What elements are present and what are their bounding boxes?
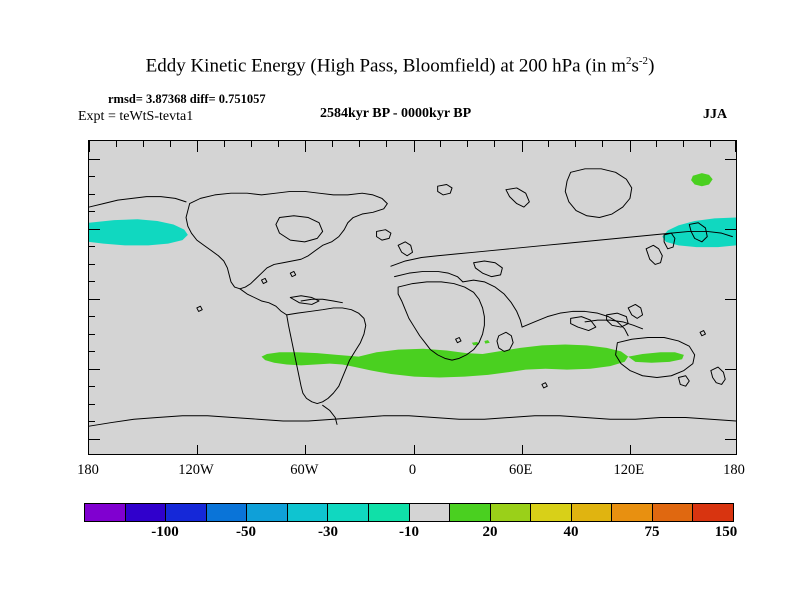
coastline-philippines bbox=[628, 304, 642, 318]
x-tick-major bbox=[414, 141, 415, 152]
colorbar-swatch-3 bbox=[207, 504, 248, 521]
y-tick-minor bbox=[89, 334, 95, 335]
coastline-caribbean bbox=[301, 299, 342, 302]
coastline-islet-b bbox=[262, 278, 267, 283]
colorbar-label-7: 150 bbox=[715, 524, 738, 541]
rmsd-diff-label: rmsd= 3.87368 diff= 0.751057 bbox=[108, 92, 266, 107]
x-tick-minor bbox=[332, 141, 333, 147]
colorbar-swatch-1 bbox=[126, 504, 167, 521]
x-tick-minor bbox=[575, 141, 576, 147]
colorbar-swatch-5 bbox=[288, 504, 329, 521]
coastline-antarctic-peninsula bbox=[323, 405, 337, 424]
coastline-islet-a bbox=[290, 271, 295, 276]
x-tick-top bbox=[305, 445, 306, 454]
x-tick-minor bbox=[143, 141, 144, 147]
region-southern-ocean-tail bbox=[628, 352, 684, 362]
y-tick-minor bbox=[89, 386, 95, 387]
colorbar-swatch-13 bbox=[612, 504, 653, 521]
y-tick-right-40s bbox=[725, 369, 736, 370]
x-tick-minor bbox=[494, 141, 495, 147]
colorbar-label-5: 40 bbox=[564, 524, 579, 541]
x-tick-top bbox=[197, 445, 198, 454]
coastline-black-caspian bbox=[474, 261, 503, 277]
coastline-greenland bbox=[565, 169, 631, 218]
y-tick-right-80n bbox=[725, 159, 736, 160]
y-tick-major-80s bbox=[89, 439, 100, 440]
figure-title: Eddy Kinetic Energy (High Pass, Bloomfie… bbox=[0, 55, 800, 77]
x-tick-major bbox=[630, 141, 631, 152]
y-tick-minor bbox=[89, 421, 95, 422]
colorbar bbox=[84, 503, 734, 522]
y-tick-minor bbox=[89, 176, 95, 177]
coastline-madagascar bbox=[497, 332, 513, 351]
coastline-sumatra bbox=[571, 317, 596, 331]
colorbar-label-2: -30 bbox=[318, 524, 338, 541]
coastline-islet-f bbox=[542, 383, 547, 388]
y-tick-major-40s bbox=[89, 369, 100, 370]
colorbar-swatch-6 bbox=[328, 504, 369, 521]
y-tick-major-0 bbox=[89, 299, 100, 300]
y-tick-minor bbox=[89, 211, 95, 212]
region-southern-ocean-positive bbox=[262, 344, 629, 377]
title-unit-s: s bbox=[631, 55, 638, 76]
coastline-iceland bbox=[377, 230, 391, 240]
colorbar-swatch-2 bbox=[166, 504, 207, 521]
y-tick-right-80s bbox=[725, 439, 736, 440]
y-tick-minor bbox=[89, 264, 95, 265]
region-southern-ocean-speck-b bbox=[484, 340, 489, 343]
region-siberia-positive bbox=[691, 173, 713, 186]
coastline-mediterranean bbox=[395, 271, 463, 281]
x-tick-minor bbox=[710, 141, 711, 147]
colorbar-swatch-15 bbox=[693, 504, 733, 521]
y-tick-major-80n bbox=[89, 159, 100, 160]
colorbar-swatch-4 bbox=[247, 504, 288, 521]
anomaly-shading-layer bbox=[89, 173, 736, 377]
y-tick-major-40n bbox=[89, 229, 100, 230]
x-tick-minor bbox=[467, 141, 468, 147]
colorbar-swatch-9 bbox=[450, 504, 491, 521]
x-tick-minor bbox=[683, 141, 684, 147]
x-tick-top bbox=[630, 445, 631, 454]
colorbar-label-3: -10 bbox=[399, 524, 419, 541]
coastline-se-asia bbox=[522, 311, 628, 335]
coastline-tasmania bbox=[678, 376, 689, 386]
y-tick-right-40n bbox=[725, 229, 736, 230]
coastline-arabia-india bbox=[463, 280, 522, 327]
colorbar-swatch-7 bbox=[369, 504, 410, 521]
coastline-alaska-chukotka bbox=[89, 197, 186, 207]
x-tick-major bbox=[305, 141, 306, 152]
coastline-africa bbox=[398, 282, 484, 360]
x-axis-label-180e: 180 bbox=[723, 462, 745, 479]
x-axis-label-60e: 60E bbox=[509, 462, 532, 479]
x-tick-minor bbox=[386, 141, 387, 147]
experiment-label: Expt = teWtS-tevta1 bbox=[78, 109, 193, 125]
colorbar-swatch-0 bbox=[85, 504, 126, 521]
colorbar-swatch-14 bbox=[653, 504, 694, 521]
colorbar-swatch-12 bbox=[572, 504, 613, 521]
coastline-japan bbox=[646, 245, 662, 264]
coastline-islet-e bbox=[197, 306, 202, 311]
x-tick-major bbox=[735, 141, 736, 152]
coastline-antarctica bbox=[89, 416, 736, 426]
colorbar-label-1: -50 bbox=[236, 524, 256, 541]
map-plot-area bbox=[88, 140, 737, 455]
coastline-islet-c bbox=[456, 337, 461, 342]
y-tick-minor bbox=[89, 351, 95, 352]
world-map-svg bbox=[89, 141, 736, 454]
x-tick-minor bbox=[548, 141, 549, 147]
x-tick-minor bbox=[251, 141, 252, 147]
title-close-paren: ) bbox=[648, 55, 654, 76]
x-tick-minor bbox=[440, 141, 441, 147]
coastline-new-zealand bbox=[711, 367, 725, 384]
coastline-svalbard bbox=[438, 184, 452, 194]
period-label: 2584kyr BP - 0000kyr BP bbox=[320, 106, 471, 122]
x-tick-minor bbox=[602, 141, 603, 147]
season-label: JJA bbox=[703, 107, 727, 123]
coastlines-layer bbox=[89, 169, 736, 426]
x-axis-label-0: 0 bbox=[409, 462, 416, 479]
figure-title-text: Eddy Kinetic Energy (High Pass, Bloomfie… bbox=[146, 55, 626, 76]
x-tick-minor bbox=[278, 141, 279, 147]
x-tick-minor bbox=[170, 141, 171, 147]
colorbar-swatch-8 bbox=[410, 504, 451, 521]
x-axis-label-120e: 120E bbox=[613, 462, 644, 479]
y-tick-minor bbox=[89, 246, 95, 247]
coastline-central-america bbox=[240, 289, 287, 315]
x-tick-major bbox=[522, 141, 523, 152]
figure-canvas: Eddy Kinetic Energy (High Pass, Bloomfie… bbox=[0, 0, 800, 600]
y-tick-minor bbox=[89, 404, 95, 405]
x-tick-minor bbox=[656, 141, 657, 147]
x-tick-minor bbox=[359, 141, 360, 147]
x-tick-top bbox=[522, 445, 523, 454]
x-axis-label-180w: 180 bbox=[77, 462, 99, 479]
coastline-novaya-zemlya bbox=[506, 188, 529, 207]
coastline-north-america bbox=[186, 191, 387, 288]
coastline-uk bbox=[398, 242, 412, 256]
x-axis-label-60w: 60W bbox=[290, 462, 318, 479]
title-exponent-2: -2 bbox=[639, 55, 648, 67]
colorbar-swatch-11 bbox=[531, 504, 572, 521]
region-north-pacific-west bbox=[662, 218, 736, 248]
x-axis-label-120w: 120W bbox=[178, 462, 213, 479]
x-tick-minor bbox=[224, 141, 225, 147]
x-tick-major bbox=[197, 141, 198, 152]
colorbar-swatch-10 bbox=[491, 504, 532, 521]
x-tick-minor bbox=[116, 141, 117, 147]
x-tick-major bbox=[89, 141, 90, 152]
coastline-islet-d bbox=[700, 331, 705, 336]
colorbar-label-4: 20 bbox=[483, 524, 498, 541]
colorbar-label-6: 75 bbox=[645, 524, 660, 541]
y-tick-minor bbox=[89, 194, 95, 195]
colorbar-label-0: -100 bbox=[151, 524, 179, 541]
x-tick-top bbox=[414, 445, 415, 454]
y-tick-minor bbox=[89, 281, 95, 282]
y-tick-right-0 bbox=[725, 299, 736, 300]
region-north-pacific-east bbox=[89, 219, 188, 245]
y-tick-minor bbox=[89, 316, 95, 317]
coastline-hudson-bay bbox=[276, 216, 323, 242]
